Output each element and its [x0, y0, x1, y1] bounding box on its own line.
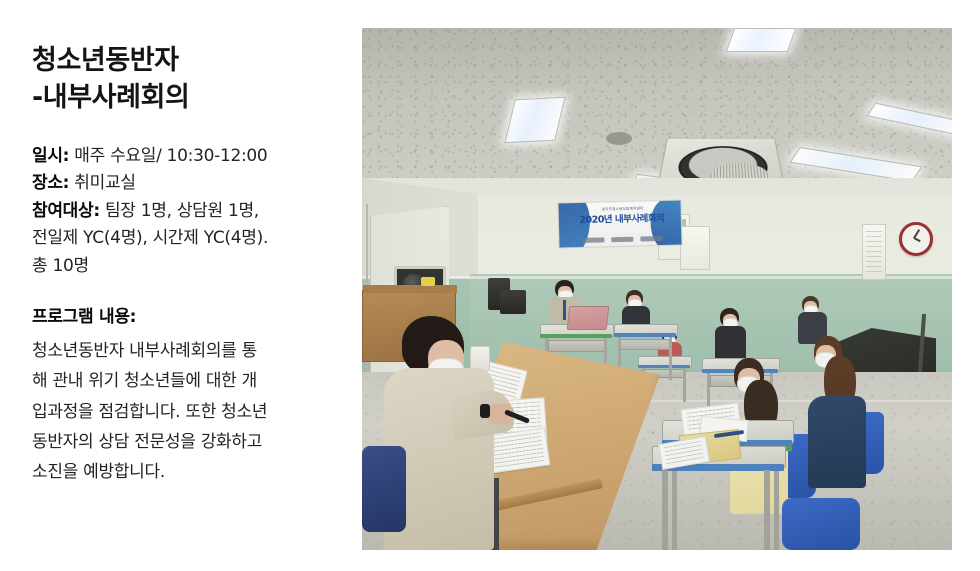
banner-title-text: 2020년 내부사례회의: [575, 214, 669, 226]
banner-logo-icon: [583, 237, 605, 243]
desk-edge: [540, 334, 612, 338]
banner-logos: [579, 235, 665, 243]
person-torso: [808, 396, 866, 488]
desk-leg: [669, 337, 672, 380]
meeting-photo: 경기도청소년상담복지센터 2020년 내부사례회의: [362, 28, 952, 550]
info-row-participants-3: 총 10명: [32, 253, 352, 281]
desk-leg: [683, 368, 686, 402]
program-body: 청소년동반자 내부사례회의를 통 해 관내 위기 청소년들에 대한 개 입과정을…: [32, 336, 352, 487]
paper-lines: [664, 441, 705, 465]
info-row-participants: 참여대상: 팀장 1명, 상담원 1명,: [32, 198, 352, 226]
desk-leg: [764, 470, 770, 550]
info-value-participants-1: 팀장 1명, 상담원 1명,: [105, 201, 259, 221]
desk-edge: [614, 333, 676, 337]
title-line-1: 청소년동반자: [32, 42, 352, 79]
info-block: 일시: 매주 수요일/ 10:30-12:00 장소: 취미교실 참여대상: 팀…: [32, 143, 352, 281]
program-heading: 프로그램 내용:: [32, 302, 352, 327]
info-value-participants-2: 전일제 YC(4명), 시간제 YC(4명).: [32, 228, 268, 248]
cabinet-top: [363, 285, 457, 293]
facilitator-chair: [362, 446, 406, 532]
wall-clock-icon: [899, 222, 933, 256]
poster-page: 청소년동반자 -내부사례회의 일시: 매주 수요일/ 10:30-12:00 장…: [0, 0, 980, 571]
program-line-3: 입과정을 점검합니다. 또한 청소년: [32, 397, 352, 427]
title-line-2: -내부사례회의: [32, 79, 352, 116]
ceiling-light-icon: [726, 28, 797, 52]
wall-notice: [862, 224, 886, 280]
info-label-location: 장소:: [32, 173, 69, 193]
page-title: 청소년동반자 -내부사례회의: [32, 42, 352, 117]
photo-scene: 경기도청소년상담복지센터 2020년 내부사례회의: [362, 28, 952, 550]
info-value-location: 취미교실: [74, 173, 135, 193]
cabinet-item: [421, 277, 435, 286]
program-line-1: 청소년동반자 내부사례회의를 통: [32, 336, 352, 366]
desk-leg: [662, 470, 668, 550]
lanyard: [563, 300, 566, 320]
info-value-datetime: 매주 수요일/ 10:30-12:00: [74, 146, 267, 166]
event-banner: 경기도청소년상담복지센터 2020년 내부사례회의: [557, 199, 682, 248]
info-label-datetime: 일시:: [32, 146, 69, 166]
banner-logo-icon: [640, 235, 662, 241]
banner-logo-icon: [611, 236, 633, 242]
person-torso: [715, 326, 746, 360]
program-line-5: 소진을 예방합니다.: [32, 457, 352, 487]
program-line-4: 동반자의 상담 전문성을 강화하고: [32, 427, 352, 457]
info-label-participants: 참여대상:: [32, 201, 100, 221]
info-row-datetime: 일시: 매주 수요일/ 10:30-12:00: [32, 143, 352, 171]
classroom-chair: [782, 498, 860, 550]
wrist-watch-icon: [480, 404, 490, 418]
info-row-participants-2: 전일제 YC(4명), 시간제 YC(4명).: [32, 225, 352, 253]
ceiling-sensor-icon: [606, 132, 632, 145]
info-row-location: 장소: 취미교실: [32, 170, 352, 198]
desk-shelf: [548, 340, 606, 352]
desk-top: [652, 432, 654, 434]
wall-notice: [680, 226, 710, 270]
text-column: 청소년동반자 -내부사례회의 일시: 매주 수요일/ 10:30-12:00 장…: [32, 42, 352, 487]
desk-shelf: [620, 339, 672, 350]
info-value-participants-3: 총 10명: [32, 256, 89, 276]
program-line-2: 해 관내 위기 청소년들에 대한 개: [32, 366, 352, 396]
speaker-icon: [500, 290, 526, 314]
laptop: [567, 306, 610, 330]
